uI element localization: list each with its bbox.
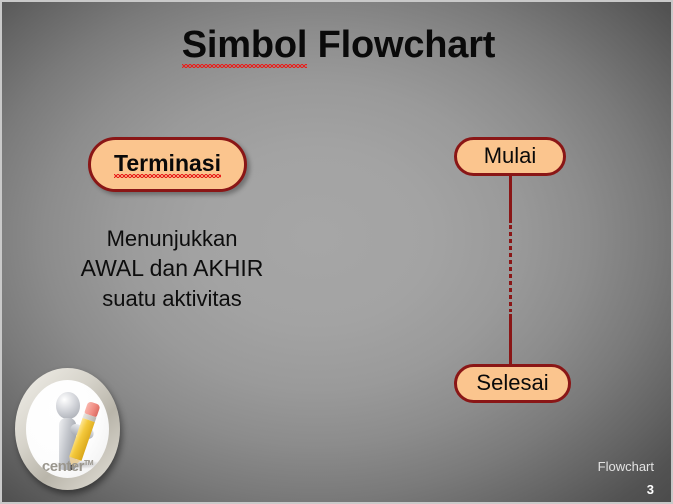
footer-topic-label: Flowchart bbox=[598, 459, 654, 474]
brand-logo: centerTM bbox=[15, 368, 120, 490]
presentation-slide: Simbol Flowchart Terminasi Menunjukkan A… bbox=[0, 0, 673, 504]
connector-line-dotted-segment bbox=[509, 225, 512, 312]
flowchart-end-label: Selesai bbox=[476, 370, 548, 396]
terminator-description: Menunjukkan AWAL dan AKHIR suatu aktivit… bbox=[42, 224, 302, 313]
terminator-symbol-shape[interactable]: Terminasi bbox=[88, 137, 247, 192]
connector-line-top-segment bbox=[509, 175, 512, 223]
connector-line-bottom-segment bbox=[509, 314, 512, 365]
logo-trademark: TM bbox=[84, 460, 93, 467]
description-line-3: suatu aktivitas bbox=[42, 284, 302, 313]
title-misspelled-word: Simbol bbox=[182, 24, 307, 67]
logo-person-head-icon bbox=[56, 392, 80, 419]
logo-wordmark: centerTM bbox=[26, 458, 109, 475]
terminator-symbol-label: Terminasi bbox=[114, 150, 221, 177]
description-line-2: AWAL dan AKHIR bbox=[42, 253, 302, 284]
footer-page-number: 3 bbox=[647, 482, 654, 497]
page-title: Simbol Flowchart bbox=[2, 24, 673, 67]
logo-inner-face: centerTM bbox=[26, 380, 109, 478]
flowchart-start-node[interactable]: Mulai bbox=[454, 137, 566, 176]
flowchart-start-label: Mulai bbox=[484, 143, 537, 169]
title-rest: Flowchart bbox=[307, 24, 495, 66]
flowchart-end-node[interactable]: Selesai bbox=[454, 364, 571, 403]
description-line-1: Menunjukkan bbox=[42, 224, 302, 253]
logo-wordmark-text: center bbox=[42, 458, 84, 475]
